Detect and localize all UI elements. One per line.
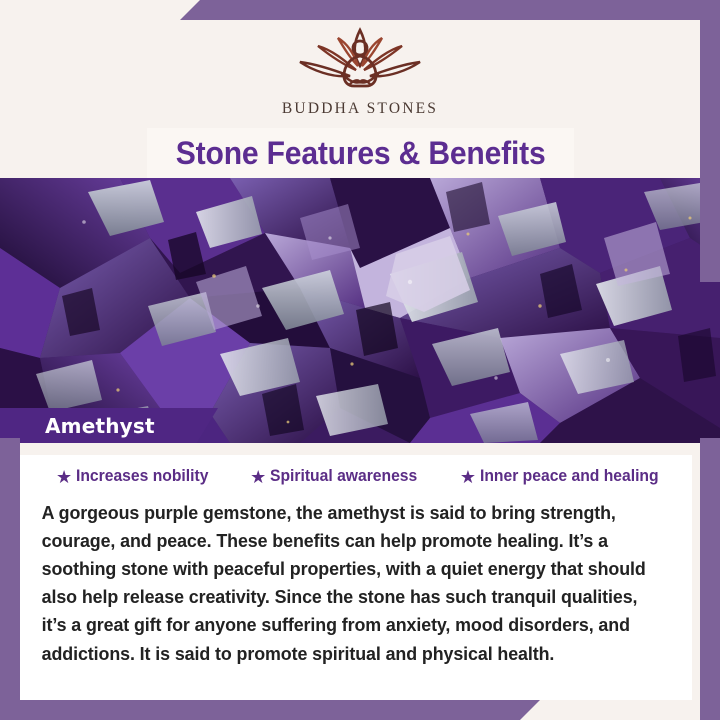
hero-image (0, 178, 720, 443)
brand-name: BUDDHA STONES (0, 100, 720, 118)
star-icon: ★ (250, 468, 266, 486)
stone-name: Amethyst (45, 414, 155, 438)
benefit-label: Spiritual awareness (270, 467, 417, 486)
stone-name-bar: Amethyst (0, 408, 218, 444)
frame-left-band (0, 438, 20, 720)
stone-description: A gorgeous purple gemstone, the amethyst… (32, 499, 659, 668)
infographic-page: BUDDHA STONES Stone Features & Benefits (0, 0, 720, 720)
amethyst-crystal-cluster-icon (0, 178, 720, 443)
frame-right-band-upper (700, 0, 720, 282)
content-panel: ★ Increases nobility ★ Spiritual awarene… (20, 455, 692, 700)
benefit-item: ★ Inner peace and healing (460, 467, 668, 486)
frame-bottom-band (0, 700, 720, 720)
frame-right-band-lower (700, 438, 720, 720)
benefit-label: Increases nobility (76, 467, 208, 486)
benefit-item: ★ Spiritual awareness (250, 467, 425, 486)
benefits-list: ★ Increases nobility ★ Spiritual awarene… (32, 467, 682, 486)
benefit-item: ★ Increases nobility (56, 467, 216, 486)
lotus-meditation-icon (284, 22, 436, 98)
title-banner: Stone Features & Benefits (147, 128, 574, 178)
brand-logo: BUDDHA STONES (0, 22, 720, 118)
star-icon: ★ (460, 468, 476, 486)
benefit-label: Inner peace and healing (480, 467, 659, 486)
star-icon: ★ (56, 468, 72, 486)
page-title: Stone Features & Benefits (176, 135, 546, 172)
